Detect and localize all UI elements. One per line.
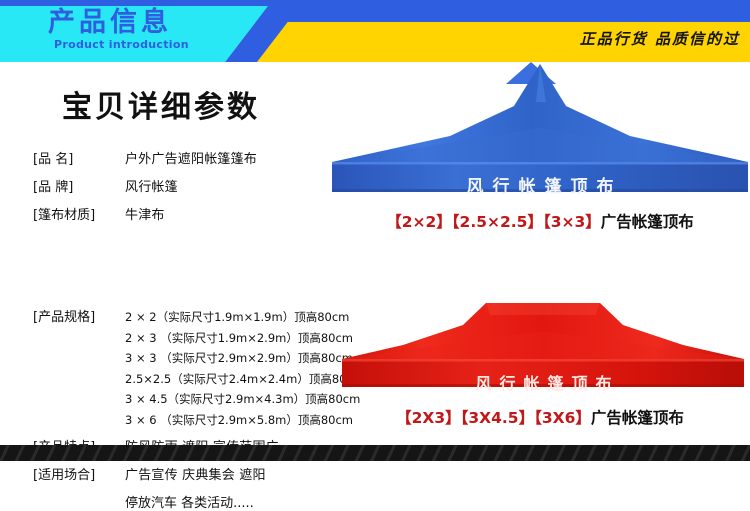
page-title: 宝贝详细参数: [62, 82, 260, 126]
caption-size: 【2×2】: [386, 213, 452, 231]
spec-row: [品 名] 户外广告遮阳帐篷篷布: [33, 148, 358, 167]
caption-size: 【2X3】: [396, 409, 461, 427]
caption-size: 【3×3】: [543, 213, 601, 231]
product-images-panel: 风行帐篷顶布 【2×2】【2.5×2.5】【3×3】广告帐篷顶布: [330, 62, 750, 442]
spec-label: [品 牌]: [33, 176, 125, 195]
size-spec-line: 3 × 3 （实际尺寸2.9m×2.9m）顶高80cm: [125, 350, 363, 366]
caption-size: 【2.5×2.5】: [452, 213, 543, 231]
size-spec-line: 3 × 4.5（实际尺寸2.9m×4.3m）顶高80cm: [125, 391, 363, 407]
spec-value: 风行帐篷: [125, 176, 178, 195]
spec-panel: 宝贝详细参数 [品 名] 户外广告遮阳帐篷篷布 [品 牌] 风行帐篷 [篷布材质…: [0, 66, 360, 441]
blue-tent-caption: 【2×2】【2.5×2.5】【3×3】广告帐篷顶布: [330, 210, 750, 232]
spec-list: [品 名] 户外广告遮阳帐篷篷布 [品 牌] 风行帐篷 [篷布材质] 牛津布: [33, 148, 358, 232]
scene-value-continued: 停放汽车 各类活动.....: [125, 492, 373, 511]
spec-row: [篷布材质] 牛津布: [33, 204, 358, 223]
caption-size: 【3X6】: [534, 409, 591, 427]
footer-bar: [0, 445, 750, 461]
spec-label: [篷布材质]: [33, 204, 125, 223]
red-tent-caption: 【2X3】【3X4.5】【3X6】广告帐篷顶布: [330, 406, 750, 428]
scene-row: [适用场合] 广告宣传 庆典集会 遮阳: [33, 464, 373, 483]
header-title: 产品信息: [48, 6, 248, 40]
size-spec-line: 2.5×2.5（实际尺寸2.4m×2.4m）顶高80cm: [125, 371, 363, 387]
size-spec-line: 2 × 2（实际尺寸1.9m×1.9m）顶高80cm: [125, 309, 349, 325]
red-tent-overlay-text: 风行帐篷顶布: [338, 370, 748, 394]
size-spec-line: 3 × 6 （实际尺寸2.9m×5.8m）顶高80cm: [125, 412, 363, 428]
page-header: 产品信息 Product introduction 正品行货 品质信的过: [0, 0, 750, 62]
spec-row: [品 牌] 风行帐篷: [33, 176, 358, 195]
size-spec-label: [产品规格]: [33, 306, 125, 325]
caption-tail: 广告帐篷顶布: [591, 409, 684, 427]
spec-value: 户外广告遮阳帐篷篷布: [125, 148, 257, 167]
header-slogan: 正品行货 品质信的过: [580, 28, 740, 49]
size-spec-line: 2 × 3 （实际尺寸1.9m×2.9m）顶高80cm: [125, 330, 363, 346]
caption-size: 【3X4.5】: [461, 409, 534, 427]
red-tent-image: 风行帐篷顶布: [338, 297, 748, 402]
size-spec-row: [产品规格] 2 × 2（实际尺寸1.9m×1.9m）顶高80cm: [33, 306, 363, 330]
spec-value: 牛津布: [125, 204, 165, 223]
caption-tail: 广告帐篷顶布: [601, 213, 694, 231]
scene-label: [适用场合]: [33, 464, 125, 483]
scene-value: 广告宣传 庆典集会 遮阳: [125, 464, 266, 483]
size-spec-lines: 2 × 3 （实际尺寸1.9m×2.9m）顶高80cm 3 × 3 （实际尺寸2…: [125, 330, 363, 428]
header-blue-band: [255, 6, 750, 23]
size-spec-block: [产品规格] 2 × 2（实际尺寸1.9m×1.9m）顶高80cm 2 × 3 …: [33, 306, 363, 432]
spec-label: [品 名]: [33, 148, 125, 167]
blue-tent-image: 风行帐篷顶布: [330, 62, 750, 207]
header-subtitle: Product introduction: [54, 38, 189, 51]
blue-tent-overlay-text: 风行帐篷顶布: [330, 172, 750, 197]
